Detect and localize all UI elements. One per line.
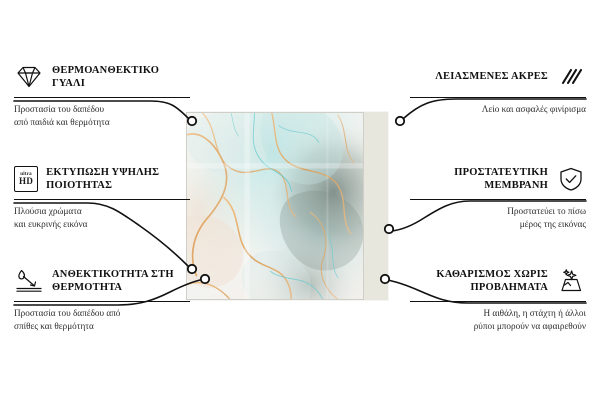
feature-protective-membrane: ΠΡΟΣΤΑΤΕΥΤΙΚΗ ΜΕΜΒΡΑΝΗ Προστατεύει το πί… xyxy=(410,164,586,232)
marble-artwork xyxy=(186,112,364,300)
diamond-icon xyxy=(14,64,44,90)
feature-description: Προστασία του δαπέδου από παιδιά και θερ… xyxy=(14,103,190,130)
feature-header: ΑΝΘΕΚΤΙΚΟΤΗΤΑ ΣΤΗ ΘΕΡΜΟΤΗΤΑ xyxy=(14,266,190,296)
hotspot-dot-polished-edges xyxy=(396,117,404,125)
ultra-hd-icon: ultra HD xyxy=(14,166,38,192)
shield-check-icon xyxy=(556,166,586,192)
feature-polished-edges: ΛΕΙΑΣΜΕΝΕΣ ΑΚΡΕΣ Λείο και ασφαλές φινίρι… xyxy=(410,62,586,116)
feature-header: ΛΕΙΑΣΜΕΝΕΣ ΑΚΡΕΣ xyxy=(410,62,586,92)
feature-easy-cleaning: ΚΑΘΑΡΙΣΜΟΣ ΧΩΡΙΣ ΠΡΟΒΛΗΜΑΤΑ Η αιθάλη, η … xyxy=(410,266,586,334)
divider xyxy=(14,301,190,302)
product-image xyxy=(186,112,364,300)
divider xyxy=(410,199,586,200)
feature-tempered-glass: ΘΕΡΜΟΑΝΘΕΚΤΙΚΟ ΓΥΑΛΙ Προστασία του δαπέδ… xyxy=(14,62,190,130)
feature-description: Προστατεύει το πίσω μέρος της εικόνας xyxy=(410,205,586,232)
feature-title: ΕΚΤΥΠΩΣΗ ΥΨΗΛΗΣ ΠΟΙΟΤΗΤΑΣ xyxy=(46,166,190,193)
flame-deflect-icon xyxy=(14,268,44,294)
divider xyxy=(14,97,190,98)
sparkle-sponge-icon xyxy=(556,268,586,294)
feature-title: ΘΕΡΜΟΑΝΘΕΚΤΙΚΟ ΓΥΑΛΙ xyxy=(52,64,190,91)
feature-title: ΚΑΘΑΡΙΣΜΟΣ ΧΩΡΙΣ ΠΡΟΒΛΗΜΑΤΑ xyxy=(410,268,548,295)
feature-header: ΠΡΟΣΤΑΤΕΥΤΙΚΗ ΜΕΜΒΡΑΝΗ xyxy=(410,164,586,194)
divider xyxy=(410,301,586,302)
hd-badge-bottom: HD xyxy=(19,177,33,186)
feature-header: ultra HD ΕΚΤΥΠΩΣΗ ΥΨΗΛΗΣ ΠΟΙΟΤΗΤΑΣ xyxy=(14,164,190,194)
feature-header: ΚΑΘΑΡΙΣΜΟΣ ΧΩΡΙΣ ΠΡΟΒΛΗΜΑΤΑ xyxy=(410,266,586,296)
infographic-canvas: ΘΕΡΜΟΑΝΘΕΚΤΙΚΟ ΓΥΑΛΙ Προστασία του δαπέδ… xyxy=(0,0,600,400)
feature-title: ΛΕΙΑΣΜΕΝΕΣ ΑΚΡΕΣ xyxy=(435,70,548,83)
feature-high-quality-print: ultra HD ΕΚΤΥΠΩΣΗ ΥΨΗΛΗΣ ΠΟΙΟΤΗΤΑΣ Πλούσ… xyxy=(14,164,190,232)
feature-title: ΑΝΘΕΚΤΙΚΟΤΗΤΑ ΣΤΗ ΘΕΡΜΟΤΗΤΑ xyxy=(52,268,190,295)
feature-title: ΠΡΟΣΤΑΤΕΥΤΙΚΗ ΜΕΜΒΡΑΝΗ xyxy=(410,166,548,193)
feature-description: Λείο και ασφαλές φινίρισμα xyxy=(410,103,586,116)
feature-description: Πλούσια χρώματα και ευκρινής εικόνα xyxy=(14,205,190,232)
feature-header: ΘΕΡΜΟΑΝΘΕΚΤΙΚΟ ΓΥΑΛΙ xyxy=(14,62,190,92)
divider xyxy=(410,97,586,98)
feature-heat-resistance: ΑΝΘΕΚΤΙΚΟΤΗΤΑ ΣΤΗ ΘΕΡΜΟΤΗΤΑ Προστασία το… xyxy=(14,266,190,334)
divider xyxy=(14,199,190,200)
diagonal-lines-icon xyxy=(556,64,586,90)
feature-description: Η αιθάλη, η στάχτη ή άλλοι ρύποι μπορούν… xyxy=(410,307,586,334)
feature-description: Προστασία του δαπέδου από σπίθες και θερ… xyxy=(14,307,190,334)
